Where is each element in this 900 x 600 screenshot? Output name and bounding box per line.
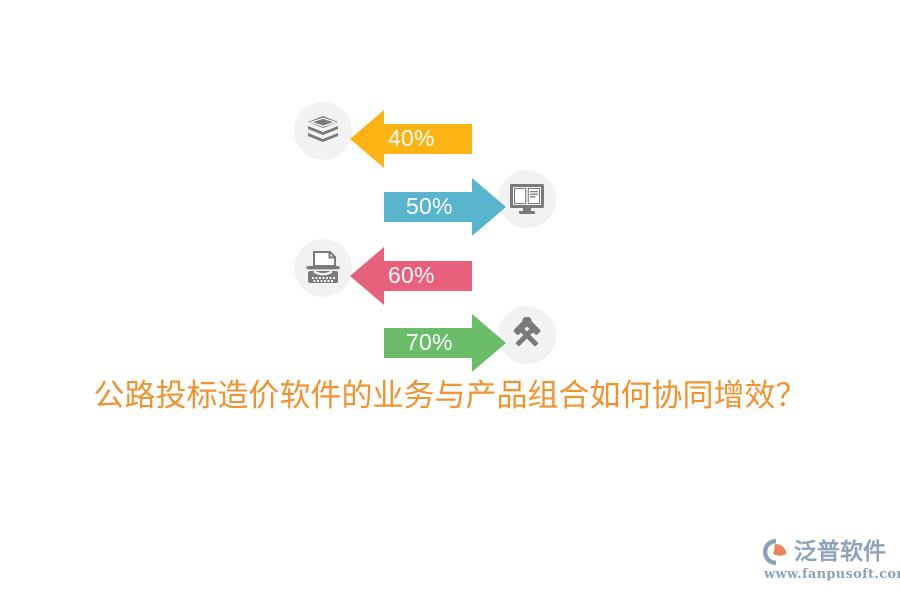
- infographic-canvas: 40%: [0, 0, 900, 600]
- page-title: 公路投标造价软件的业务与产品组合如何协同增效？: [0, 374, 900, 418]
- arrow-left-40: 40%: [350, 110, 472, 168]
- arrow-right-70: 70%: [384, 314, 506, 372]
- watermark-url: www.fanpusoft.com: [764, 567, 900, 583]
- books-stack-icon: [294, 102, 352, 160]
- arrow-label: 50%: [406, 178, 453, 236]
- flow-row: 50%: [280, 164, 590, 236]
- watermark: 泛普软件 www.fanpusoft.com: [762, 536, 894, 588]
- arrow-label: 70%: [406, 314, 453, 372]
- fanpu-logo-icon: [762, 538, 792, 566]
- flow-row: 40%: [280, 96, 590, 168]
- flow-row: 70%: [280, 300, 590, 372]
- watermark-brand: 泛普软件: [794, 538, 886, 566]
- flow-row: 60%: [280, 233, 590, 305]
- arrow-label: 60%: [388, 247, 435, 305]
- arrow-right-50: 50%: [384, 178, 506, 236]
- arrow-label: 40%: [388, 110, 435, 168]
- arrow-left-60: 60%: [350, 247, 472, 305]
- typewriter-icon: [294, 239, 352, 297]
- crossed-hammers-icon: [498, 306, 556, 364]
- percent-flow-diagram: 40%: [280, 90, 590, 380]
- open-book-icon: [498, 170, 556, 228]
- watermark-brand-row: 泛普软件: [762, 536, 886, 568]
